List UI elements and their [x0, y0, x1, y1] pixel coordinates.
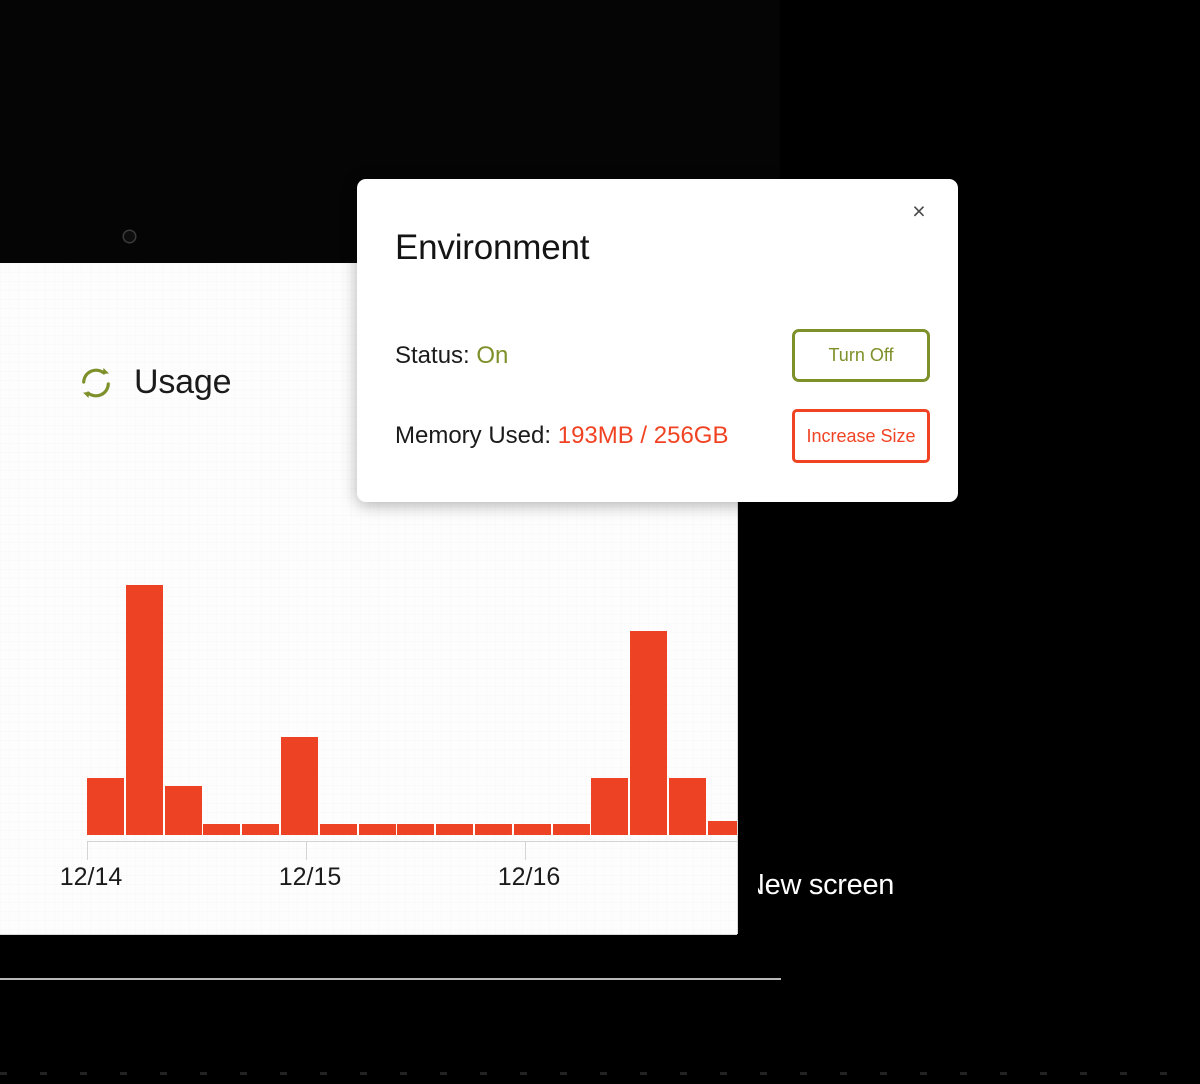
increase-size-button[interactable]: Increase Size [792, 409, 930, 463]
turn-off-button[interactable]: Turn Off [792, 329, 930, 382]
status-value: On [476, 342, 508, 369]
chart-bar[interactable] [320, 824, 357, 835]
environment-modal: × Environment Status: On Turn Off Memory… [357, 179, 958, 502]
memory-row: Memory Used: 193MB / 256GB Increase Size [395, 409, 930, 463]
chart-bar[interactable] [630, 631, 667, 835]
chart-bar[interactable] [87, 778, 124, 835]
usage-card-header: Usage [78, 363, 231, 402]
chart-bar[interactable] [242, 824, 279, 835]
chart-bar[interactable] [397, 824, 434, 835]
modal-title: Environment [395, 228, 589, 268]
chart-plot-area [87, 563, 737, 835]
page-title: Usage [134, 363, 231, 402]
chart-bar[interactable] [436, 824, 473, 835]
close-icon[interactable]: × [904, 196, 934, 226]
chart-tick [87, 841, 88, 860]
chart-bar[interactable] [708, 821, 737, 835]
new-screen-label: New screen [758, 869, 988, 902]
chart-bar[interactable] [591, 778, 628, 835]
chart-bar[interactable] [359, 824, 396, 835]
chart-bar[interactable] [669, 778, 706, 835]
memory-text: Memory Used: 193MB / 256GB [395, 422, 728, 450]
chart-bar[interactable] [553, 824, 590, 835]
refresh-arrow-bottom [83, 391, 89, 397]
horizontal-divider [0, 978, 781, 980]
usage-bar-chart[interactable]: 12/1412/1512/16 [0, 563, 737, 903]
screenshot-root: Usage 12/1412/1512/16 New screen × Envir… [0, 0, 1200, 1084]
chart-bar[interactable] [514, 824, 551, 835]
chart-tick [306, 841, 307, 860]
status-row: Status: On Turn Off [395, 329, 930, 382]
chart-tick-label: 12/15 [279, 863, 342, 892]
memory-label: Memory Used: [395, 422, 551, 449]
chart-tick-label: 12/14 [60, 863, 123, 892]
status-label: Status: [395, 342, 470, 369]
chart-x-axis [87, 841, 737, 842]
refresh-arrow-top [103, 368, 109, 374]
memory-value: 193MB / 256GB [558, 422, 729, 449]
new-screen-text: New screen [758, 869, 894, 902]
chart-bar[interactable] [126, 585, 163, 835]
chart-tick-label: 12/16 [498, 863, 561, 892]
status-text: Status: On [395, 342, 508, 370]
refresh-icon[interactable] [78, 365, 114, 401]
camera-dot [124, 231, 135, 242]
chart-tick [525, 841, 526, 860]
chart-bar[interactable] [475, 824, 512, 835]
chart-bar[interactable] [203, 824, 240, 835]
chart-bar[interactable] [281, 737, 318, 835]
bottom-dotted-row [0, 1072, 1200, 1075]
chart-bar[interactable] [165, 786, 202, 835]
